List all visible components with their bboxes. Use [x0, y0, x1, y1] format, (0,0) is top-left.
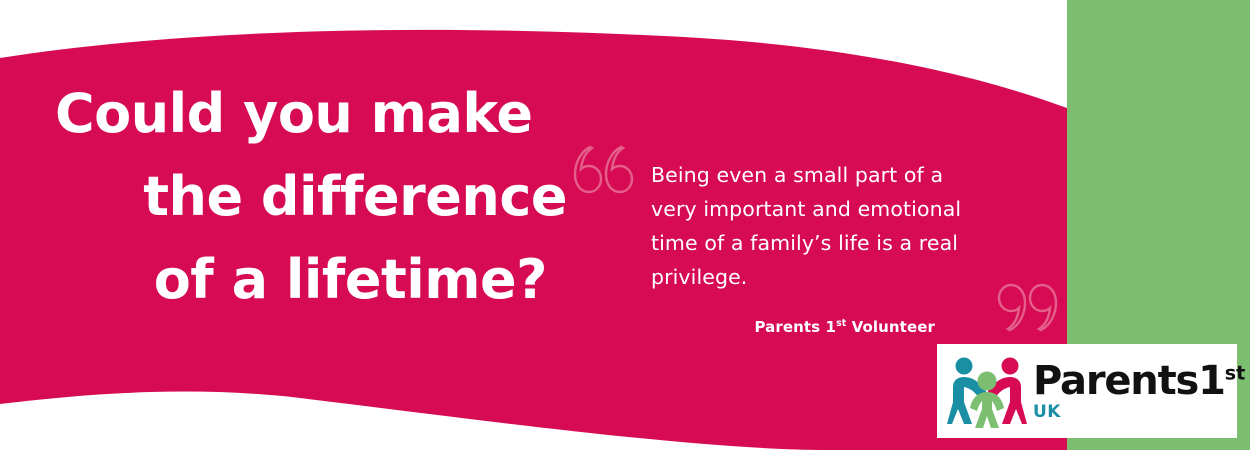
quote-text: Being even a small part of a very import…	[651, 158, 1031, 294]
quote-attribution-prefix: Parents 1	[754, 318, 836, 336]
logo-wordmark: Parents1st UK	[1033, 361, 1245, 421]
quote-line-2: very important and emotional	[651, 197, 961, 221]
quote-attribution: Parents 1st Volunteer	[651, 318, 1031, 336]
parents1st-logo[interactable]: Parents1st UK	[937, 344, 1237, 438]
three-people-icon	[947, 354, 1027, 428]
logo-name: Parents1st	[1033, 361, 1245, 401]
quote-line-3: time of a family’s life is a real	[651, 231, 958, 255]
quote-attribution-superscript: st	[836, 318, 846, 329]
testimonial-quote: Being even a small part of a very import…	[651, 158, 1031, 336]
logo-region: UK	[1033, 403, 1245, 421]
headline-line-2: the difference	[55, 155, 595, 238]
logo-name-superscript: st	[1225, 362, 1246, 385]
promotional-banner: Could you make the difference of a lifet…	[0, 0, 1250, 450]
page-title: Could you make the difference of a lifet…	[55, 72, 595, 321]
quote-line-4: privilege.	[651, 265, 747, 289]
headline-line-3: of a lifetime?	[55, 238, 595, 321]
quote-line-1: Being even a small part of a	[651, 163, 943, 187]
headline-line-1: Could you make	[55, 72, 595, 155]
quote-attribution-suffix: Volunteer	[846, 318, 935, 336]
logo-name-prefix: Parents1	[1033, 358, 1225, 404]
